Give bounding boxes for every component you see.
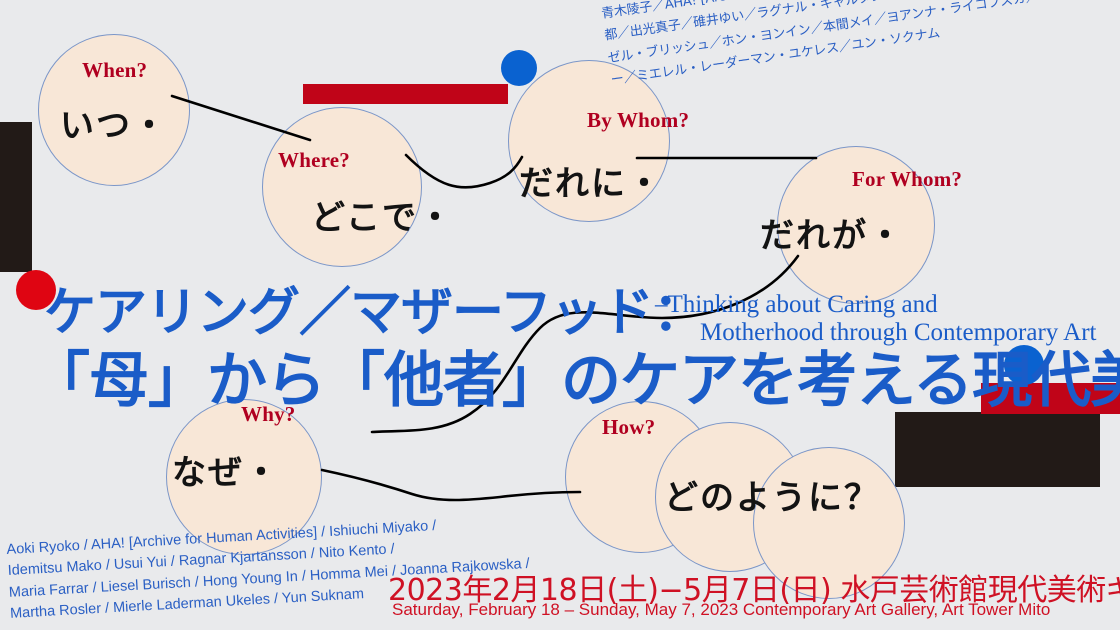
question-circle-where <box>262 107 422 267</box>
blue-dot-top <box>501 50 537 86</box>
artist-list-japanese: 青木陵子／AHA! [Archive for Human Activities／… <box>600 0 1120 93</box>
subtitle-line1: –Thinking about Caring and <box>655 290 938 321</box>
connector-where-bywhom <box>406 155 522 187</box>
exhibition-poster: When? いつ・ Where? どこで・ By Whom? だれに・ For … <box>0 0 1120 630</box>
exhibition-dates-english: Saturday, February 18 – Sunday, May 7, 2… <box>392 600 1050 620</box>
connector-why-how <box>322 470 580 500</box>
question-label-ja-why: なぜ・ <box>172 445 280 494</box>
question-label-ja-where: どこで・ <box>311 190 454 239</box>
question-label-en-forwhom: For Whom? <box>852 167 962 192</box>
question-label-en-where: Where? <box>278 148 350 173</box>
red-bar-top <box>303 84 508 104</box>
question-label-ja-bywhom: だれに・ <box>519 156 663 205</box>
question-label-en-when: When? <box>82 58 147 83</box>
dark-rectangle-right <box>895 412 1100 487</box>
subtitle-line2: Motherhood through Contemporary Art <box>700 318 1096 349</box>
question-label-ja-how: どのように？ <box>664 470 880 519</box>
question-label-ja-forwhom: だれが・ <box>760 208 904 257</box>
question-label-ja-when: いつ・ <box>60 98 168 147</box>
dark-rectangle-left <box>0 122 32 272</box>
question-label-en-bywhom: By Whom? <box>587 108 689 133</box>
